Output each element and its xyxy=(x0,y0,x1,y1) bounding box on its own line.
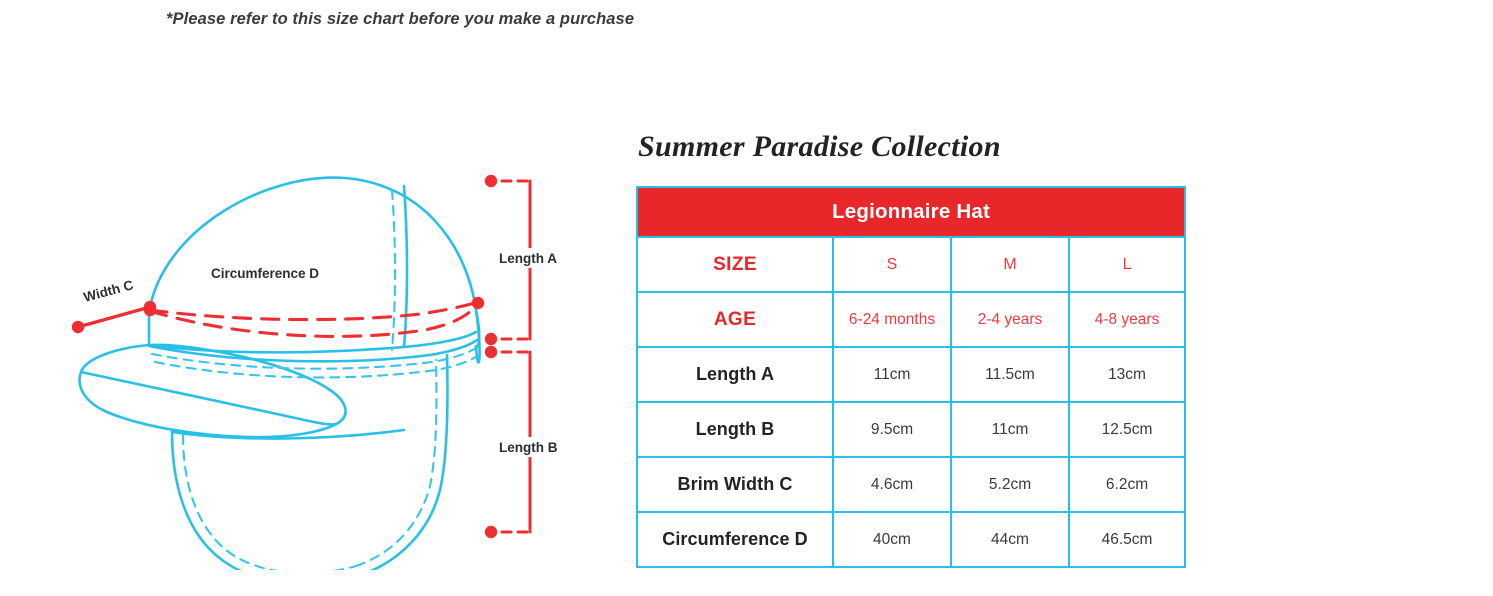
cell-length-a-s: 11cm xyxy=(834,348,952,403)
cell-length-b-m: 11cm xyxy=(952,403,1070,458)
cell-age-s: 6-24 months xyxy=(834,293,952,348)
circumference-d-dot-right xyxy=(472,297,484,309)
length-a-dot-top xyxy=(485,175,497,187)
stitch-crown-seam xyxy=(392,190,395,350)
size-chart-panel: Summer Paradise Collection Legionnaire H… xyxy=(636,130,1188,568)
stitch-band-lower2 xyxy=(155,355,479,377)
cell-length-b-s: 9.5cm xyxy=(834,403,952,458)
width-c-dot-left xyxy=(72,321,84,333)
cell-size-m: M xyxy=(952,238,1070,293)
hat-diagram-svg: Circumference D Width C Length A xyxy=(0,150,600,570)
table-row: AGE 6-24 months 2-4 years 4-8 years xyxy=(636,293,1186,348)
collection-title: Summer Paradise Collection xyxy=(638,130,1188,164)
stitch-neck-flap-right xyxy=(356,360,436,566)
cell-length-a-m: 11.5cm xyxy=(952,348,1070,403)
row-label-length-a: Length A xyxy=(636,348,834,403)
row-label-age: AGE xyxy=(636,293,834,348)
cell-length-a-l: 13cm xyxy=(1070,348,1186,403)
table-row-product-title: Legionnaire Hat xyxy=(636,186,1186,238)
row-label-brim-width-c: Brim Width C xyxy=(636,458,834,513)
length-b-label: Length B xyxy=(499,440,558,455)
hat-crown-seam xyxy=(404,186,407,347)
circumference-d-line-bottom xyxy=(150,303,478,336)
table-row: Length A 11cm 11.5cm 13cm xyxy=(636,348,1186,403)
cell-circumference-d-m: 44cm xyxy=(952,513,1070,568)
width-c-measure: Width C xyxy=(72,277,156,333)
cell-age-m: 2-4 years xyxy=(952,293,1070,348)
circumference-d-label: Circumference D xyxy=(211,266,319,281)
table-row: SIZE S M L xyxy=(636,238,1186,293)
width-c-dot-right xyxy=(144,301,156,313)
cell-size-l: L xyxy=(1070,238,1186,293)
table-row: Circumference D 40cm 44cm 46.5cm xyxy=(636,513,1186,568)
cell-circumference-d-s: 40cm xyxy=(834,513,952,568)
length-a-dot-bottom xyxy=(485,333,497,345)
cell-brim-width-c-m: 5.2cm xyxy=(952,458,1070,513)
width-c-line xyxy=(78,307,150,327)
table-row: Length B 9.5cm 11cm 12.5cm xyxy=(636,403,1186,458)
cell-size-s: S xyxy=(834,238,952,293)
size-chart-note: *Please refer to this size chart before … xyxy=(166,10,634,29)
circumference-d-line-top xyxy=(150,302,478,320)
length-b-dot-bottom xyxy=(485,526,497,538)
hat-neck-flap-left xyxy=(172,432,360,570)
width-c-label: Width C xyxy=(82,277,135,305)
row-label-circumference-d: Circumference D xyxy=(636,513,834,568)
length-b-dot-top xyxy=(485,346,497,358)
cell-circumference-d-l: 46.5cm xyxy=(1070,513,1186,568)
hat-diagram: Circumference D Width C Length A xyxy=(0,150,600,570)
cell-brim-width-c-l: 6.2cm xyxy=(1070,458,1186,513)
cell-age-l: 4-8 years xyxy=(1070,293,1186,348)
hat-stitch-dashed-group xyxy=(152,190,479,570)
hat-brim-outline xyxy=(80,345,346,437)
cell-brim-width-c-s: 4.6cm xyxy=(834,458,952,513)
row-label-length-b: Length B xyxy=(636,403,834,458)
length-b-measure: Length B xyxy=(485,346,568,538)
row-label-size: SIZE xyxy=(636,238,834,293)
product-title-cell: Legionnaire Hat xyxy=(636,186,1186,238)
size-chart-table: Legionnaire Hat SIZE S M L AGE 6-24 mont… xyxy=(636,186,1186,568)
table-row: Brim Width C 4.6cm 5.2cm 6.2cm xyxy=(636,458,1186,513)
length-a-measure: Length A xyxy=(485,175,568,345)
circumference-d-measure: Circumference D xyxy=(144,266,484,336)
length-a-label: Length A xyxy=(499,251,557,266)
cell-length-b-l: 12.5cm xyxy=(1070,403,1186,458)
